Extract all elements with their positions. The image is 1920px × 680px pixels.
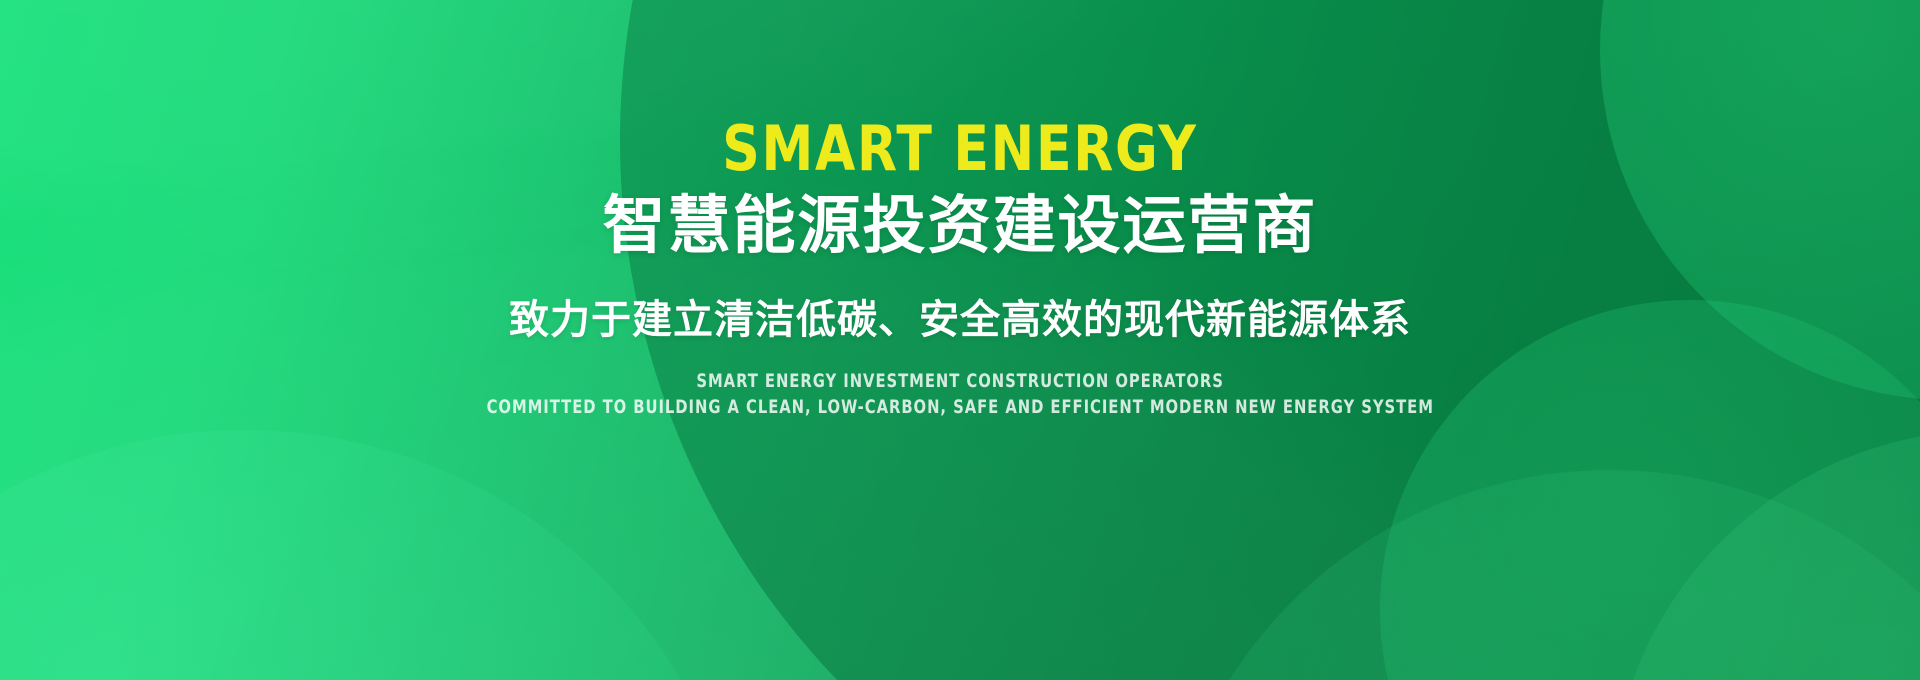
banner-content: SMART ENERGY 智慧能源投资建设运营商 致力于建立清洁低碳、安全高效的… <box>0 0 1920 680</box>
banner-subheadline: 致力于建立清洁低碳、安全高效的现代新能源体系 <box>509 298 1411 342</box>
hero-banner: SMART ENERGY 智慧能源投资建设运营商 致力于建立清洁低碳、安全高效的… <box>0 0 1920 680</box>
banner-english-captions: SMART ENERGY INVESTMENT CONSTRUCTION OPE… <box>353 372 1568 417</box>
banner-english-caption-primary: SMART ENERGY INVESTMENT CONSTRUCTION OPE… <box>696 372 1223 391</box>
banner-headline: 智慧能源投资建设运营商 <box>603 192 1318 260</box>
banner-english-caption-secondary: COMMITTED TO BUILDING A CLEAN, LOW-CARBO… <box>486 398 1433 417</box>
banner-eyebrow-title: SMART ENERGY <box>722 118 1197 180</box>
